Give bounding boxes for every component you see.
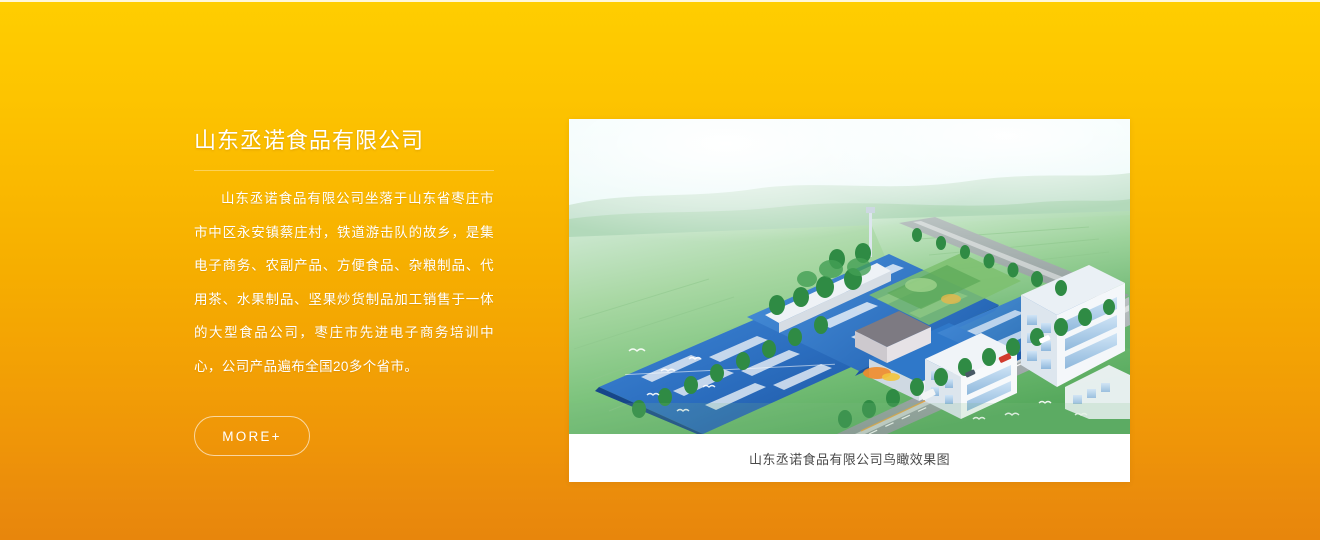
figure-caption: 山东丞诺食品有限公司鸟瞰效果图 [569,434,1130,482]
title-divider [194,170,494,171]
page-title: 山东丞诺食品有限公司 [194,126,494,156]
more-button-wrap: MORE+ [194,416,494,456]
about-text-column: 山东丞诺食品有限公司 山东丞诺食品有限公司坐落于山东省枣庄市市中区永安镇蔡庄村，… [194,126,494,456]
top-accent-line [0,0,1320,2]
figure-card[interactable]: 山东丞诺食品有限公司鸟瞰效果图 [569,119,1130,482]
about-section: 山东丞诺食品有限公司 山东丞诺食品有限公司坐落于山东省枣庄市市中区永安镇蔡庄村，… [0,0,1320,540]
more-button[interactable]: MORE+ [194,416,310,456]
aerial-rendering-illustration [569,119,1130,434]
about-paragraph: 山东丞诺食品有限公司坐落于山东省枣庄市市中区永安镇蔡庄村，铁道游击队的故乡，是集… [194,182,494,383]
aerial-rendering-image[interactable] [569,119,1130,434]
